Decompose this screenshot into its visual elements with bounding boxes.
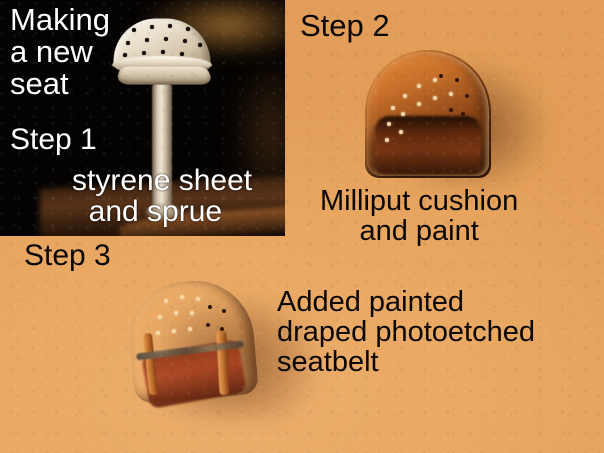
drilled-hole (183, 39, 187, 43)
step-2-seat-object (365, 50, 497, 180)
drilled-hole (439, 74, 443, 78)
step-3-seat-object (130, 275, 270, 410)
drilled-hole (198, 43, 202, 47)
step-2-detail-caption: Milliput cushion and paint (320, 186, 518, 246)
step-2-label: Step 2 (300, 10, 390, 42)
step-1-label: Step 1 (10, 124, 97, 155)
drilled-hole (399, 130, 403, 134)
step-3-detail-caption: Added painted draped photoetched seatbel… (277, 287, 535, 377)
drilled-hole (385, 138, 389, 142)
drilled-hole (222, 309, 226, 313)
drilled-hole (158, 315, 162, 319)
drilled-hole (168, 24, 172, 28)
drilled-hole (206, 323, 210, 327)
drilled-hole (220, 327, 224, 331)
drilled-hole (387, 122, 391, 126)
drilled-hole (161, 50, 165, 54)
drilled-hole (433, 78, 437, 82)
drilled-hole (180, 295, 184, 299)
drilled-hole (142, 51, 146, 55)
drilled-hole (123, 53, 127, 57)
drilled-hole (164, 37, 168, 41)
drilled-hole (172, 329, 176, 333)
seat-shell (365, 50, 491, 178)
drilled-hole (417, 102, 421, 106)
drilled-hole (164, 299, 168, 303)
step-1-detail-caption: styrene sheet and sprue (72, 165, 252, 227)
drilled-hole (190, 311, 194, 315)
drilled-hole (417, 84, 421, 88)
drilled-hole (455, 78, 459, 82)
drilled-hole (401, 112, 405, 116)
drilled-hole (188, 327, 192, 331)
drilled-hole (449, 92, 453, 96)
drilled-hole (433, 96, 437, 100)
step-3-label: Step 3 (24, 240, 111, 271)
drilled-hole (174, 311, 178, 315)
drilled-hole (150, 25, 154, 29)
drilled-hole (145, 38, 149, 42)
drilled-hole (196, 297, 200, 301)
image-canvas: Making a new seat Step 1 styrene sheet a… (0, 0, 604, 453)
seat-pan (115, 67, 214, 85)
drilled-hole (180, 52, 184, 56)
drilled-hole (186, 27, 190, 31)
drilled-hole (449, 108, 453, 112)
drilled-hole (391, 106, 395, 110)
drilled-hole (461, 112, 465, 116)
drilled-hole (465, 94, 469, 98)
milliput-cushion (375, 116, 481, 174)
drilled-hole (132, 28, 136, 32)
step-1-photo-panel: Making a new seat Step 1 styrene sheet a… (0, 0, 285, 236)
drilled-hole (156, 331, 160, 335)
styrene-seat (110, 18, 214, 90)
drilled-hole (126, 41, 130, 45)
drilled-hole (403, 94, 407, 98)
title-caption: Making a new seat (10, 4, 110, 101)
drilled-hole (208, 305, 212, 309)
